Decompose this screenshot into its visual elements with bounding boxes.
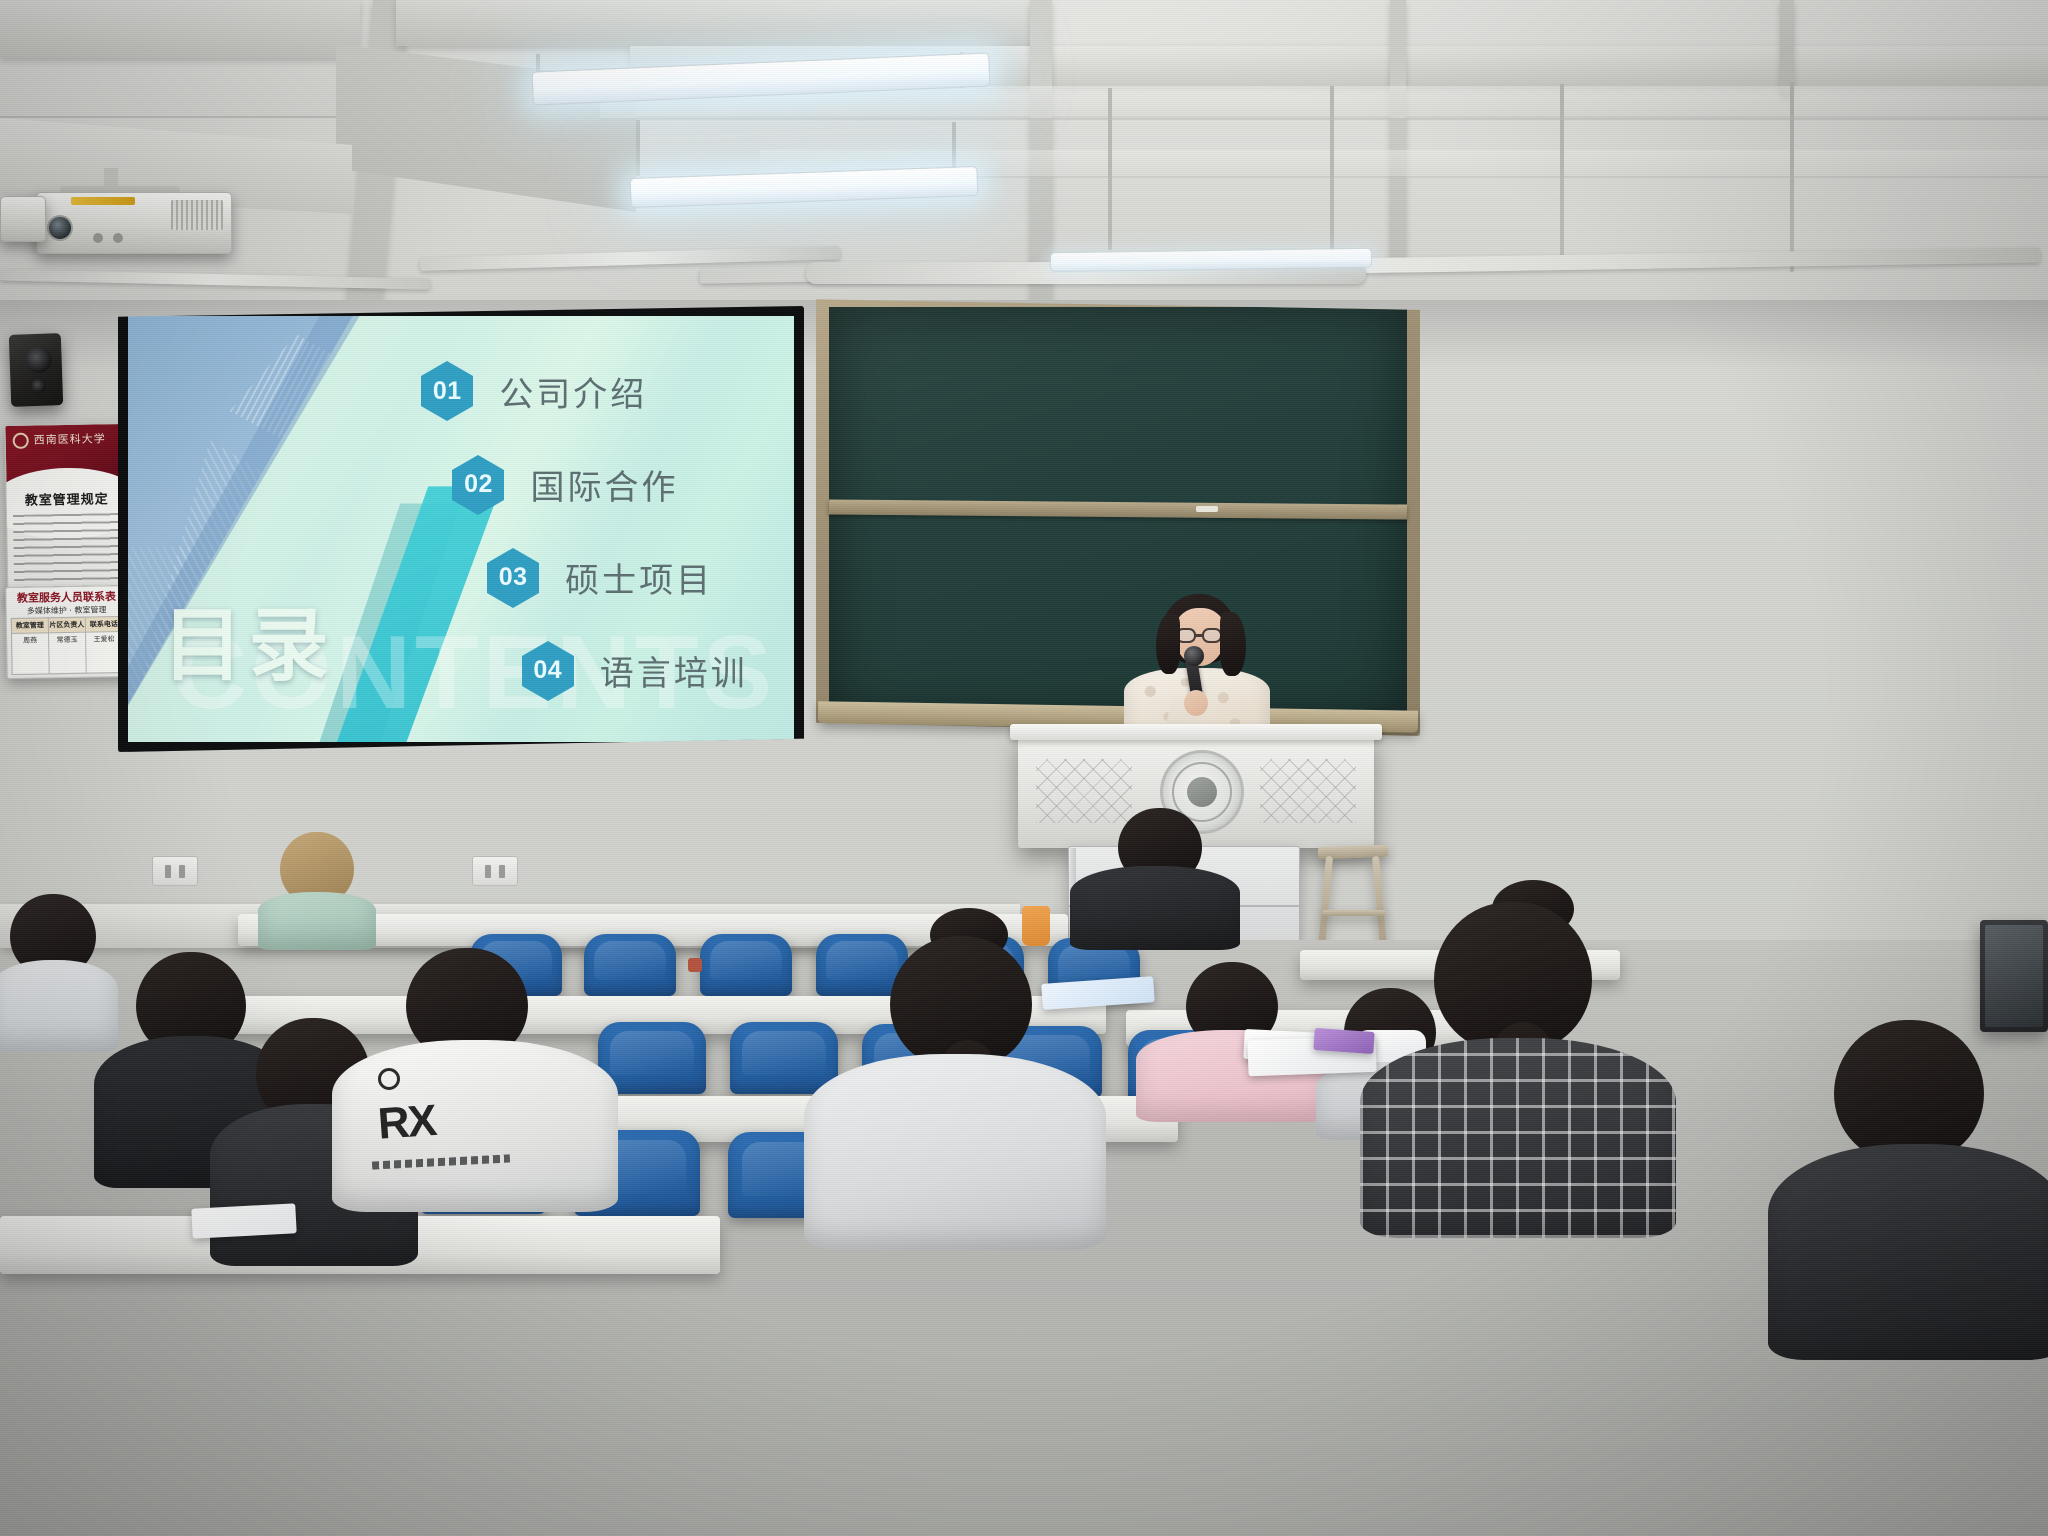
eyeglasses-right-lens-icon [1202,628,1222,643]
student-plaid [1360,880,1670,1220]
chair[interactable] [700,934,792,996]
hexagon-badge-icon: 03 [487,548,539,608]
classroom-rules-poster: 西南医科大学 教室管理规定 [4,423,129,605]
presenter-hand [1184,690,1208,716]
wall-speaker [9,333,63,407]
contact-cell: 周燕 [12,633,49,674]
contact-table: 教室管理 片区负责人 联系电话 周燕 常德玉 王爱松 [11,616,124,675]
handout-paper [191,1203,296,1238]
student-white-jacket: RX [332,948,616,1208]
presenter-hair-right [1220,612,1246,676]
agenda-item-03: 03 硕士项目 [487,548,713,608]
student-body [804,1054,1106,1250]
wall-outlet-left [152,856,198,886]
student-front-row [1070,808,1236,942]
agenda-item-02: 02 国际合作 [452,455,678,515]
student-head [1834,1020,1984,1162]
poster-title: 教室管理规定 [7,488,127,509]
jacket-graphic: RX [376,1092,489,1152]
agenda-number: 01 [421,361,473,421]
student-body [1360,1038,1676,1238]
monitor-screen [1985,925,2043,1027]
ceiling-projector [36,192,232,254]
emblem-core-icon [1187,777,1217,807]
agenda-item-04: 04 语言培训 [522,641,748,701]
chalk-piece [1196,506,1218,512]
podium-right-pattern [1260,759,1356,823]
student-ponytail [804,908,1104,1238]
lecture-hall-photo: 西南医科大学 教室管理规定 教室服务人员联系表 多媒体维护 · 教室管理 教室管… [0,0,2048,1536]
projector-side-box [0,196,46,242]
presenter-hair-left [1156,614,1180,674]
student [258,832,376,944]
contact-col-header: 片区负责人 [49,618,85,633]
speaker-driver-icon [25,346,52,373]
agenda-label: 硕士项目 [565,553,713,602]
handout-card [1313,1028,1374,1054]
contact-col-header: 联系电话 [86,617,122,632]
student [1768,1020,2048,1350]
contact-cell: 常德玉 [49,633,86,674]
desk-marking [688,958,702,972]
podium-top-surface [1010,724,1382,740]
projector-vent-icon [171,200,223,230]
staff-contact-poster: 教室服务人员联系表 多媒体维护 · 教室管理 教室管理 片区负责人 联系电话 周… [5,585,129,679]
contact-col-header: 教室管理 [12,618,48,633]
screen-surface: CONTENTS 目录 01 公司介绍 02 [128,316,794,742]
student-body [1070,866,1240,950]
slide-heading-chinese: 目录 [163,581,335,697]
agenda-label: 公司介绍 [499,367,647,416]
student-body [258,892,376,950]
agenda-label: 语言培训 [600,646,748,695]
agenda-number: 02 [452,455,504,515]
rear-monitor [1980,920,2048,1032]
student-body [1768,1144,2048,1360]
slide-agenda-list: 01 公司介绍 02 国际合作 03 [414,354,760,712]
poster-university-name: 西南医科大学 [34,430,106,447]
projector-lens-icon [47,215,73,241]
drink-cup [1022,906,1050,946]
microphone-head-icon [1184,646,1204,666]
presentation-slide: CONTENTS 目录 01 公司介绍 02 [128,316,794,742]
agenda-label: 国际合作 [530,460,678,509]
contact-poster-subtitle: 多媒体维护 · 教室管理 [7,604,127,617]
hexagon-badge-icon: 04 [522,641,574,701]
jacket-circle-icon [378,1068,400,1090]
projection-screen: CONTENTS 目录 01 公司介绍 02 [118,306,804,752]
agenda-item-01: 01 公司介绍 [421,361,647,421]
agenda-number: 03 [487,548,539,608]
speaker-tweeter-icon [31,378,45,392]
hexagon-badge-icon: 01 [421,361,473,421]
ceiling [0,0,2048,300]
blackboard [816,294,1420,736]
contact-cell: 王爱松 [86,632,123,673]
projector-label-strip [71,197,135,205]
agenda-number: 04 [522,641,574,701]
wall-outlet-right [472,856,518,886]
hexagon-badge-icon: 02 [452,455,504,515]
eyeglasses-bridge-icon [1196,634,1203,637]
